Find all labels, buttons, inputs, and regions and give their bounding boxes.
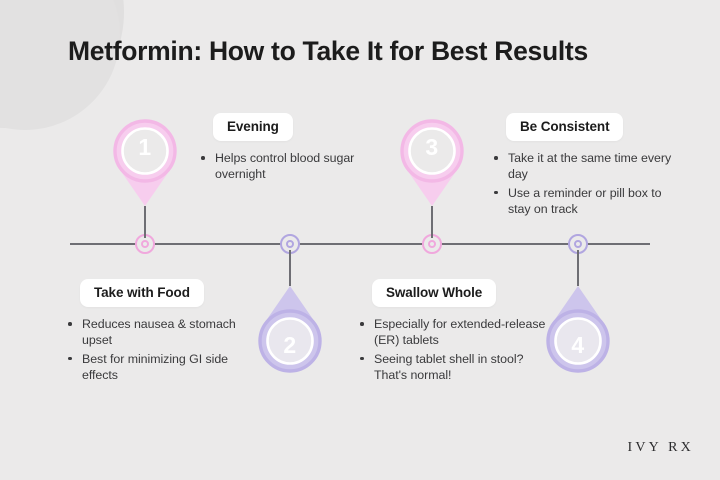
bullet-item: Seeing tablet shell in stool? That's nor…	[358, 351, 548, 384]
step-pin-4[interactable]: 4	[541, 286, 615, 378]
step-pin-number-4: 4	[541, 332, 615, 359]
step-pin-number-1: 1	[108, 134, 182, 161]
step-block-2: Take with Food Reduces nausea & stomach …	[66, 279, 256, 386]
step-title-1: Evening	[213, 113, 293, 141]
page-title: Metformin: How to Take It for Best Resul…	[68, 36, 668, 66]
node-ring-inner-3	[428, 240, 436, 248]
timeline-stem-2	[289, 250, 291, 286]
bullet-item: Use a reminder or pill box to stay on tr…	[492, 185, 682, 218]
step-pin-number-2: 2	[253, 332, 327, 359]
bullet-item: Especially for extended-release (ER) tab…	[358, 316, 548, 349]
step-pin-number-3: 3	[395, 134, 469, 161]
step-bullets-4: Especially for extended-release (ER) tab…	[358, 316, 548, 384]
node-ring-inner-1	[141, 240, 149, 248]
step-pin-2[interactable]: 2	[253, 286, 327, 378]
bullet-item: Take it at the same time every day	[492, 150, 682, 183]
bullet-item: Helps control blood sugar overnight	[199, 150, 389, 183]
bullet-item: Best for minimizing GI side effects	[66, 351, 256, 384]
timeline-axis	[70, 243, 650, 245]
node-ring-inner-4	[574, 240, 582, 248]
bullet-item: Reduces nausea & stomach upset	[66, 316, 256, 349]
step-block-4: Swallow Whole Especially for extended-re…	[358, 279, 548, 386]
step-title-3: Be Consistent	[506, 113, 623, 141]
timeline-stem-3	[431, 206, 433, 238]
node-ring-inner-2	[286, 240, 294, 248]
step-block-3: Be Consistent Take it at the same time e…	[492, 113, 682, 220]
step-bullets-3: Take it at the same time every day Use a…	[492, 150, 682, 218]
step-bullets-1: Helps control blood sugar overnight	[199, 150, 389, 183]
step-pin-1[interactable]: 1	[108, 114, 182, 206]
timeline-stem-4	[577, 250, 579, 286]
step-bullets-2: Reduces nausea & stomach upset Best for …	[66, 316, 256, 384]
infographic-canvas: Metformin: How to Take It for Best Resul…	[0, 0, 720, 480]
brand-logo: IVY RX	[627, 440, 694, 456]
step-title-4: Swallow Whole	[372, 279, 496, 307]
step-title-2: Take with Food	[80, 279, 204, 307]
step-pin-3[interactable]: 3	[395, 114, 469, 206]
timeline-stem-1	[144, 206, 146, 238]
step-block-1: Evening Helps control blood sugar overni…	[199, 113, 389, 185]
